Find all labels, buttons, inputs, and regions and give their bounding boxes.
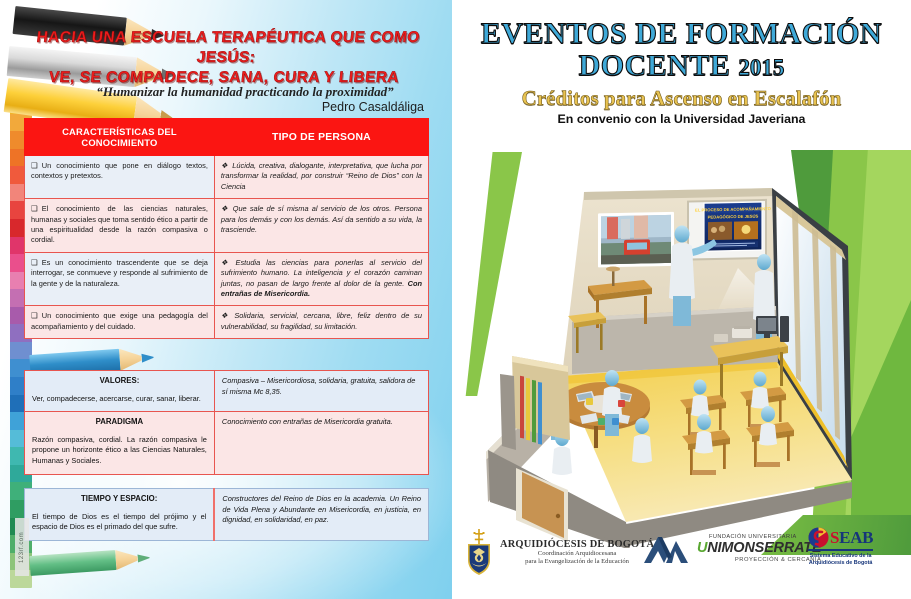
unimonserrate-mark-icon	[642, 533, 694, 565]
classroom-illustration: EL PROCESO DE ACOMPAÑAMIENTO PEDAGÓGICO …	[476, 150, 888, 548]
unimonserrate-tagline-bottom: PROYECCIÓN & CERCANÍA	[697, 557, 821, 563]
valores-left-text: Ver, compadecerse, acercarse, curar, san…	[32, 394, 201, 403]
event-title-year: 2015	[738, 55, 784, 80]
header-tipo-persona: TIPO DE PERSONA	[214, 119, 428, 156]
paradigma-left-text: Razón compasiva, cordial. La razón compa…	[32, 435, 207, 465]
row-3-right: Solidaria, servicial, cercana, libre, fe…	[221, 311, 422, 330]
arquidiocesis-name: ARQUIDIÓCESIS DE BOGOTÁ	[500, 539, 654, 551]
row-1-left: El conocimiento de las ciencias naturale…	[31, 204, 208, 244]
paradigma-caption: PARADIGMA	[32, 417, 207, 428]
tiempo-espacio-caption: TIEMPO Y ESPACIO:	[32, 494, 206, 505]
left-panel-quote-author: Pedro Casaldáliga	[60, 100, 430, 114]
seab-acronym-s: S	[830, 528, 839, 547]
event-subtitle: Créditos para Ascenso en Escalafón	[460, 86, 903, 111]
right-poster-panel: EVENTOS DE FORMACIÓN DOCENTE 2015 Crédit…	[452, 0, 911, 599]
table-row: VALORES: Ver, compadecerse, acercarse, c…	[25, 371, 429, 412]
characteristics-table: CARACTERÍSTICAS DEL CONOCIMIENTO TIPO DE…	[24, 118, 429, 339]
left-panel-title: HACIA UNA ESCUELA TERAPÉUTICA QUE COMO J…	[19, 28, 433, 88]
unimonserrate-name: UNIMONSERRATE	[697, 541, 821, 556]
unimonserrate-name-u: U	[697, 540, 707, 556]
seab-sub-2: Arquidiócesis de Bogotá	[808, 560, 873, 567]
event-title-line-1: EVENTOS DE FORMACIÓN	[481, 17, 882, 50]
svg-text:PEDAGÓGICO DE JESÚS: PEDAGÓGICO DE JESÚS	[708, 214, 759, 220]
table-row: Un conocimiento que exige una pedagogía …	[25, 306, 429, 339]
logo-unimonserrate: FUNDACIÓN UNIVERSITARIA UNIMONSERRATE PR…	[642, 533, 821, 565]
row-3-left: Un conocimiento que exige una pedagogía …	[31, 311, 208, 330]
arquidiocesis-crest-icon	[464, 527, 494, 577]
table-row: PARADIGMA Razón compasiva, cordial. La r…	[25, 412, 429, 474]
sponsor-logos-row: ARQUIDIÓCESIS DE BOGOTÁ Coordinación Arq…	[458, 523, 908, 587]
table-row: Es un conocimiento trascendente que se d…	[25, 252, 429, 306]
logo-seab: SEAB Sistema Educativo de la Arquidióces…	[808, 527, 873, 567]
left-poster-panel: HACIA UNA ESCUELA TERAPÉUTICA QUE COMO J…	[0, 0, 452, 599]
tiempo-espacio-left-text: El tiempo de Dios es el tiempo del próji…	[32, 512, 206, 532]
seab-underline	[808, 549, 873, 551]
row-0-right: Lúcida, creativa, dialogante, interpreta…	[221, 161, 422, 191]
seab-acronym-eab: EAB	[839, 528, 873, 547]
left-panel-quote: “Humanizar la humanidad practicando la p…	[60, 84, 430, 100]
header-caracteristicas: CARACTERÍSTICAS DEL CONOCIMIENTO	[25, 119, 215, 156]
arquidiocesis-sub-1: Coordinación Arquidiocesana	[500, 550, 654, 557]
unimonserrate-name-rest: NIMONSERRATE	[707, 540, 821, 556]
poster-page: HACIA UNA ESCUELA TERAPÉUTICA QUE COMO J…	[0, 0, 911, 599]
wall-photo-bus	[598, 212, 674, 268]
table-header-row: CARACTERÍSTICAS DEL CONOCIMIENTO TIPO DE…	[25, 119, 429, 156]
paradigma-right-text: Conocimiento con entrañas de Misericordi…	[214, 412, 428, 474]
tiempo-espacio-table: TIEMPO Y ESPACIO: El tiempo de Dios es e…	[24, 488, 429, 541]
left-title-line-1: HACIA UNA ESCUELA TERAPÉUTICA QUE COMO J…	[21, 28, 433, 68]
row-1-right: Que sale de sí misma al servicio de los …	[221, 204, 422, 234]
arquidiocesis-sub-2: para la Evangelización de la Educación	[500, 558, 654, 565]
valores-caption: VALORES:	[32, 376, 207, 387]
table-row: El conocimiento de las ciencias naturale…	[25, 199, 429, 253]
valores-right-text: Compasiva – Misericordiosa, solidaria, g…	[214, 371, 428, 412]
logo-arquidiocesis: ARQUIDIÓCESIS DE BOGOTÁ Coordinación Arq…	[464, 527, 654, 577]
tiempo-espacio-right-text: Constructores del Reino de Dios en la ac…	[214, 489, 428, 541]
table-row: TIEMPO Y ESPACIO: El tiempo de Dios es e…	[25, 489, 429, 541]
seab-sub-1: Sistema Educativo de la	[808, 553, 873, 560]
seab-swirl-icon	[808, 527, 829, 548]
row-2-right: Estudia las ciencias para ponerlas al se…	[221, 258, 422, 288]
event-convenio-line: En convenio con la Universidad Javeriana	[460, 112, 903, 126]
seab-acronym: SEAB	[830, 528, 873, 548]
event-title-line-2: DOCENTE	[579, 49, 731, 82]
event-title: EVENTOS DE FORMACIÓN DOCENTE 2015	[460, 18, 903, 84]
row-2-left: Es un conocimiento trascendente que se d…	[31, 258, 208, 288]
table-row: Un conocimiento que pone en diálogo text…	[25, 156, 429, 199]
stock-photo-watermark: 123rf.com	[15, 518, 29, 576]
row-0-left: Un conocimiento que pone en diálogo text…	[31, 161, 208, 180]
valores-paradigma-table: VALORES: Ver, compadecerse, acercarse, c…	[24, 370, 429, 475]
